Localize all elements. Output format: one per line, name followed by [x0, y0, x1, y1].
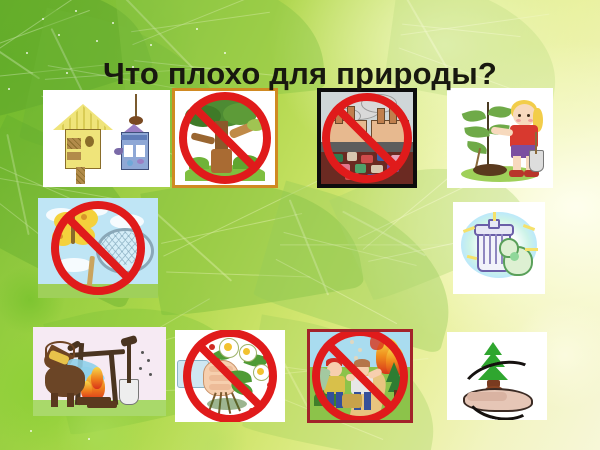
picture-tile-picking-flowers[interactable]	[175, 330, 285, 422]
hand-fir-art	[447, 332, 547, 420]
birdhouse-feeder-art	[43, 90, 170, 187]
trash-bin-art	[453, 202, 545, 294]
picture-tile-extinguish-campfire[interactable]	[33, 327, 166, 416]
campfire-art	[33, 327, 166, 416]
picture-tile-factory-garbage[interactable]	[317, 88, 417, 188]
page-title: Что плохо для природы?	[0, 54, 600, 94]
prohibition-sign-icon	[51, 201, 145, 295]
prohibition-sign-icon	[312, 329, 408, 423]
picture-tile-hand-holding-fir[interactable]	[447, 332, 547, 420]
prohibition-sign-icon	[322, 93, 412, 183]
slide-canvas: Что плохо для природы?	[0, 0, 600, 450]
picture-tile-catching-butterflies[interactable]	[38, 198, 158, 298]
prohibition-sign-icon	[179, 92, 271, 184]
picture-tile-trash-bin[interactable]	[453, 202, 545, 294]
picture-tile-broken-tree[interactable]	[172, 88, 278, 188]
picture-tile-birdhouse-feeder[interactable]	[43, 90, 170, 187]
picture-tile-kids-forest-fire[interactable]	[307, 329, 413, 423]
picture-tile-girl-planting-tree[interactable]	[447, 88, 553, 188]
prohibition-sign-icon	[183, 330, 277, 422]
girl-planting-art	[447, 88, 553, 188]
